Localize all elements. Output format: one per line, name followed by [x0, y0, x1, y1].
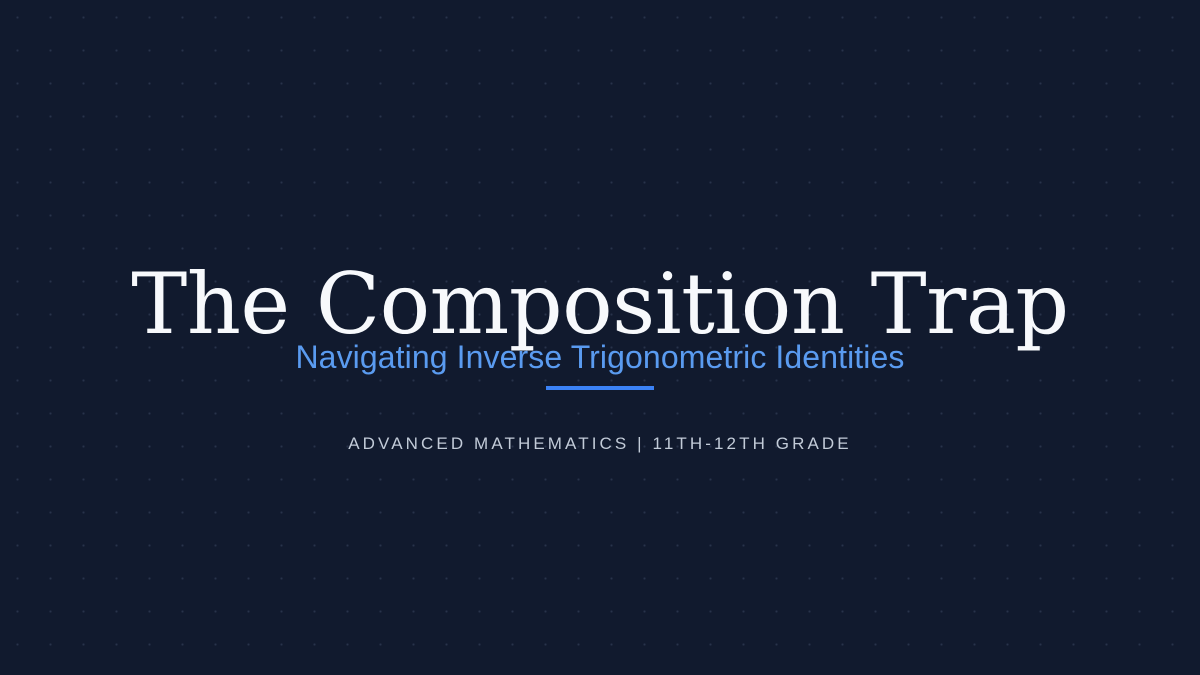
- page-subtitle: Navigating Inverse Trigonometric Identit…: [0, 341, 1200, 373]
- title-slide: The Composition Trap Navigating Inverse …: [0, 0, 1200, 675]
- divider-container: [0, 386, 1200, 390]
- page-title: The Composition Trap: [0, 262, 1200, 346]
- accent-divider: [546, 386, 654, 390]
- course-label: ADVANCED MATHEMATICS | 11TH-12TH GRADE: [0, 434, 1200, 454]
- slide-content: The Composition Trap Navigating Inverse …: [0, 0, 1200, 675]
